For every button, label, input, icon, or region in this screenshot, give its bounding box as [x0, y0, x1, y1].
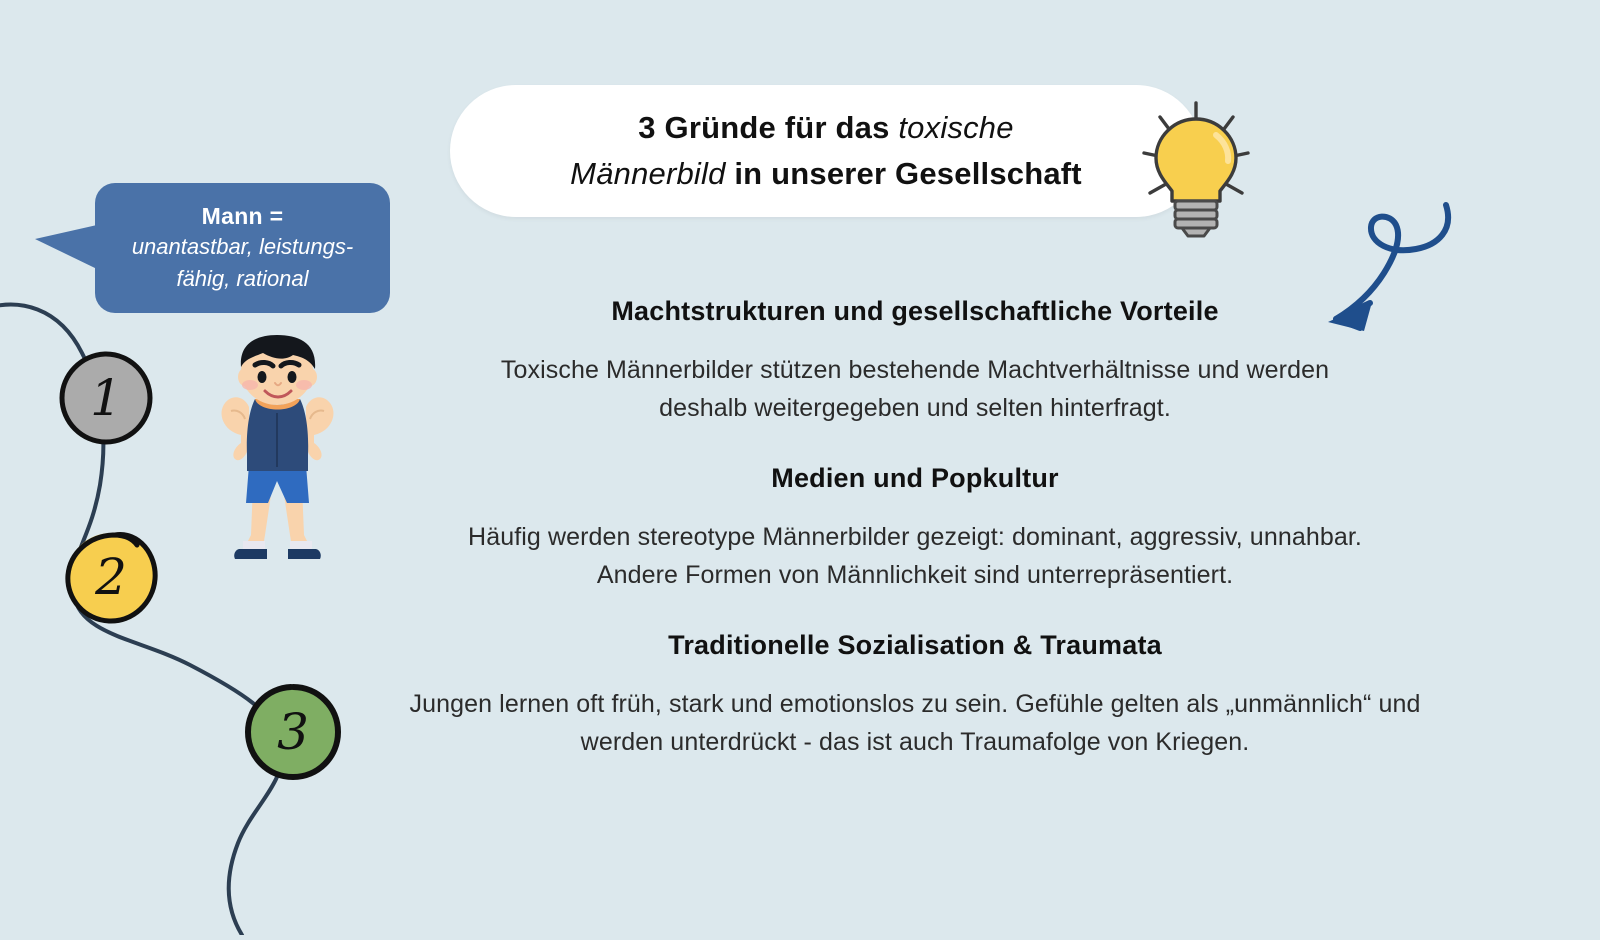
- page-title: 3 Gründe für das toxische Männerbild in …: [526, 105, 1126, 197]
- reason-item-3: Traditionelle Sozialisation & Traumata J…: [370, 630, 1460, 761]
- title-emphasis-toxische: toxische: [898, 110, 1013, 145]
- step-badge-1[interactable]: 1: [58, 350, 154, 446]
- step-badge-2[interactable]: 2: [63, 529, 159, 625]
- title-emphasis-maennerbild: Männerbild: [570, 156, 725, 191]
- reasons-list: Machtstrukturen und gesellschaftliche Vo…: [370, 296, 1460, 761]
- reason-title-3: Traditionelle Sozialisation & Traumata: [370, 630, 1460, 661]
- reason-title-1: Machtstrukturen und gesellschaftliche Vo…: [370, 296, 1460, 327]
- title-segment-3: in unserer Gesellschaft: [726, 156, 1082, 191]
- title-card: 3 Gründe für das toxische Männerbild in …: [450, 85, 1202, 217]
- muscular-man-illustration: [205, 335, 350, 575]
- reason-item-2: Medien und Popkultur Häufig werden stere…: [370, 463, 1460, 594]
- speech-bubble-subtitle-line1: unantastbar, leistungs-: [118, 231, 367, 263]
- speech-bubble-tail: [35, 225, 97, 269]
- reason-body-1: Toxische Männerbilder stützen bestehende…: [465, 351, 1365, 427]
- speech-bubble-subtitle-line2: fähig, rational: [162, 263, 322, 295]
- reason-title-2: Medien und Popkultur: [370, 463, 1460, 494]
- badge-number: 2: [95, 552, 127, 602]
- reason-body-3: Jungen lernen oft früh, stark und emotio…: [400, 685, 1430, 761]
- speech-bubble-title: Mann =: [202, 201, 284, 231]
- reason-body-2: Häufig werden stereotype Männerbilder ge…: [435, 518, 1395, 594]
- step-badge-3[interactable]: 3: [245, 684, 341, 780]
- badge-number: 3: [277, 707, 309, 757]
- lightbulb-icon: [1130, 95, 1260, 240]
- reason-item-1: Machtstrukturen und gesellschaftliche Vo…: [370, 296, 1460, 427]
- infographic-canvas: 3 Gründe für das toxische Männerbild in …: [0, 0, 1600, 933]
- badge-number: 1: [90, 373, 122, 423]
- speech-bubble: Mann = unantastbar, leistungs- fähig, ra…: [95, 183, 390, 313]
- title-segment-1: 3 Gründe für das: [638, 110, 898, 145]
